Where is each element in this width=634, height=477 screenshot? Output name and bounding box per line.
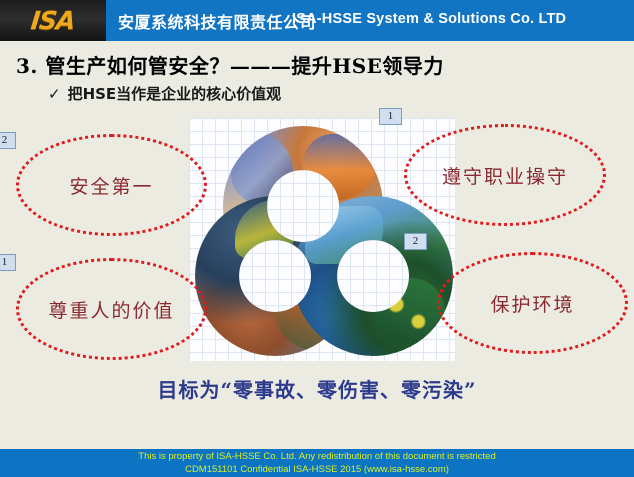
image-badge-2[interactable]: 2 <box>404 233 427 250</box>
slide-header: ISA 安厦系统科技有限责任公司 ISA-HSSE System & Solut… <box>0 0 634 41</box>
callout-environment-label: 保护环境 <box>490 290 574 317</box>
header-company-name-en: ISA-HSSE System & Solutions Co. LTD <box>292 11 566 27</box>
check-icon: ✓ <box>48 85 61 103</box>
slide-canvas: ISA 安厦系统科技有限责任公司 ISA-HSSE System & Solut… <box>0 0 634 477</box>
slide-footer: This is property of ISA-HSSE Co. Ltd. An… <box>0 449 634 477</box>
footer-line-1: This is property of ISA-HSSE Co. Ltd. An… <box>0 451 634 464</box>
callout-ethics: 遵守职业操守 <box>404 124 606 226</box>
subtitle-label: 把HSE当作是企业的核心价值观 <box>68 85 282 103</box>
callout-human-value: 尊重人的价值 <box>16 258 207 360</box>
callout-ethics-label: 遵守职业操守 <box>442 162 568 189</box>
subtitle-bullet: ✓把HSE当作是企业的核心价值观 <box>48 83 281 104</box>
goal-statement: 目标为“零事故、零伤害、零污染” <box>0 374 634 403</box>
collage-hole-right <box>337 240 409 312</box>
header-company-name-cn: 安厦系统科技有限责任公司 <box>118 9 316 33</box>
page-title: 3. 管生产如何管安全？———提升HSE领导力 <box>16 50 444 79</box>
callout-safety-first-label: 安全第一 <box>69 172 153 199</box>
callout-safety-first: 安全第一 <box>16 134 207 236</box>
footer-line-2: CDM151101 Confidential ISA-HSSE 2015 (ww… <box>0 464 634 477</box>
callout-human-value-label: 尊重人的价值 <box>48 296 174 323</box>
edge-badge-2[interactable]: 2 <box>0 132 16 149</box>
isa-logo-panel: ISA <box>0 0 106 41</box>
collage-hole-top <box>267 170 339 242</box>
image-badge-1[interactable]: 1 <box>379 108 402 125</box>
edge-badge-1[interactable]: 1 <box>0 254 16 271</box>
isa-logo-icon: ISA <box>30 6 77 35</box>
callout-environment: 保护环境 <box>437 252 628 354</box>
collage-hole-left <box>239 240 311 312</box>
